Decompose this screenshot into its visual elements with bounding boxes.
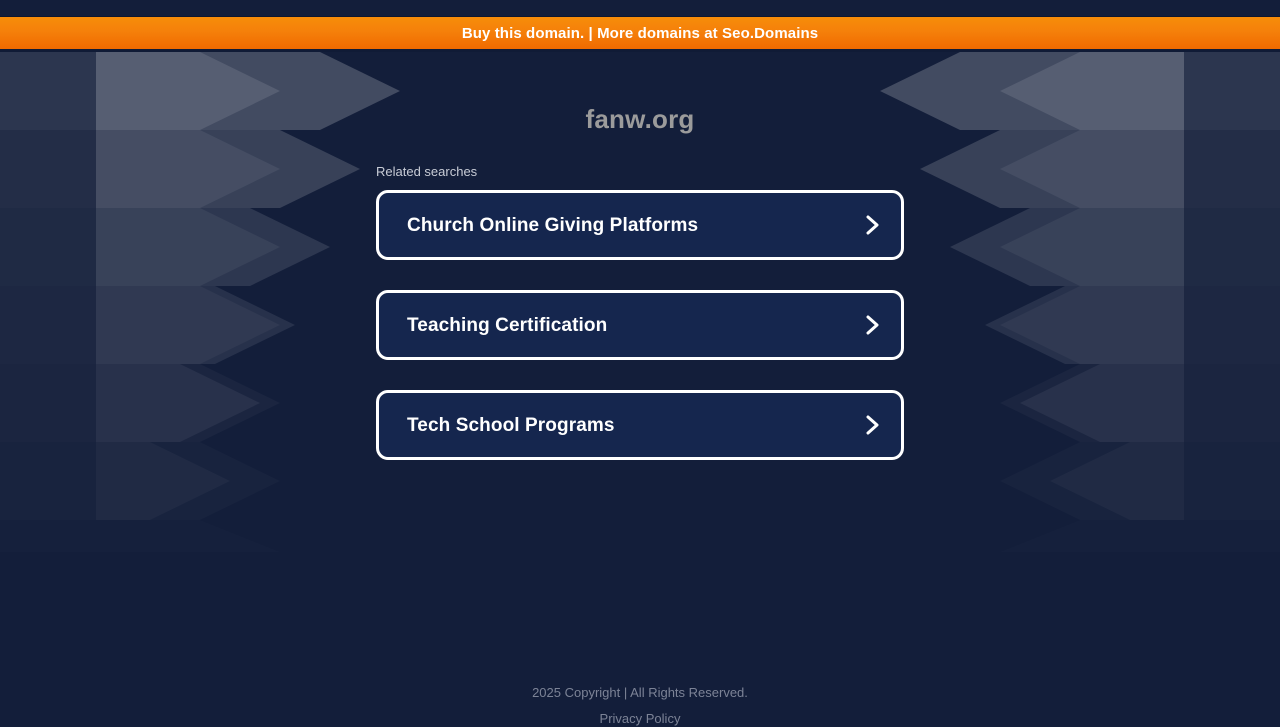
related-search-label: Church Online Giving Platforms bbox=[407, 216, 863, 235]
related-searches-list: Church Online Giving Platforms Teaching … bbox=[376, 190, 904, 490]
chevron-right-icon bbox=[863, 413, 883, 437]
related-search-item-2[interactable]: Teaching Certification bbox=[376, 290, 904, 360]
chevron-right-icon bbox=[863, 313, 883, 337]
related-search-label: Teaching Certification bbox=[407, 316, 863, 335]
chevron-right-icon bbox=[863, 213, 883, 237]
related-search-label: Tech School Programs bbox=[407, 416, 863, 435]
page-footer: 2025 Copyright | All Rights Reserved. Pr… bbox=[0, 684, 1280, 727]
buy-domain-banner[interactable]: Buy this domain. | More domains at Seo.D… bbox=[0, 16, 1280, 52]
privacy-policy-link[interactable]: Privacy Policy bbox=[0, 710, 1280, 727]
related-search-item-1[interactable]: Church Online Giving Platforms bbox=[376, 190, 904, 260]
copyright-text: 2025 Copyright | All Rights Reserved. bbox=[0, 684, 1280, 701]
related-searches-label: Related searches bbox=[376, 164, 477, 179]
related-search-item-3[interactable]: Tech School Programs bbox=[376, 390, 904, 460]
buy-domain-link[interactable]: Buy this domain. | More domains at Seo.D… bbox=[462, 25, 818, 42]
domain-name-heading: fanw.org bbox=[0, 104, 1280, 135]
page-content: fanw.org Related searches Church Online … bbox=[0, 0, 1280, 720]
